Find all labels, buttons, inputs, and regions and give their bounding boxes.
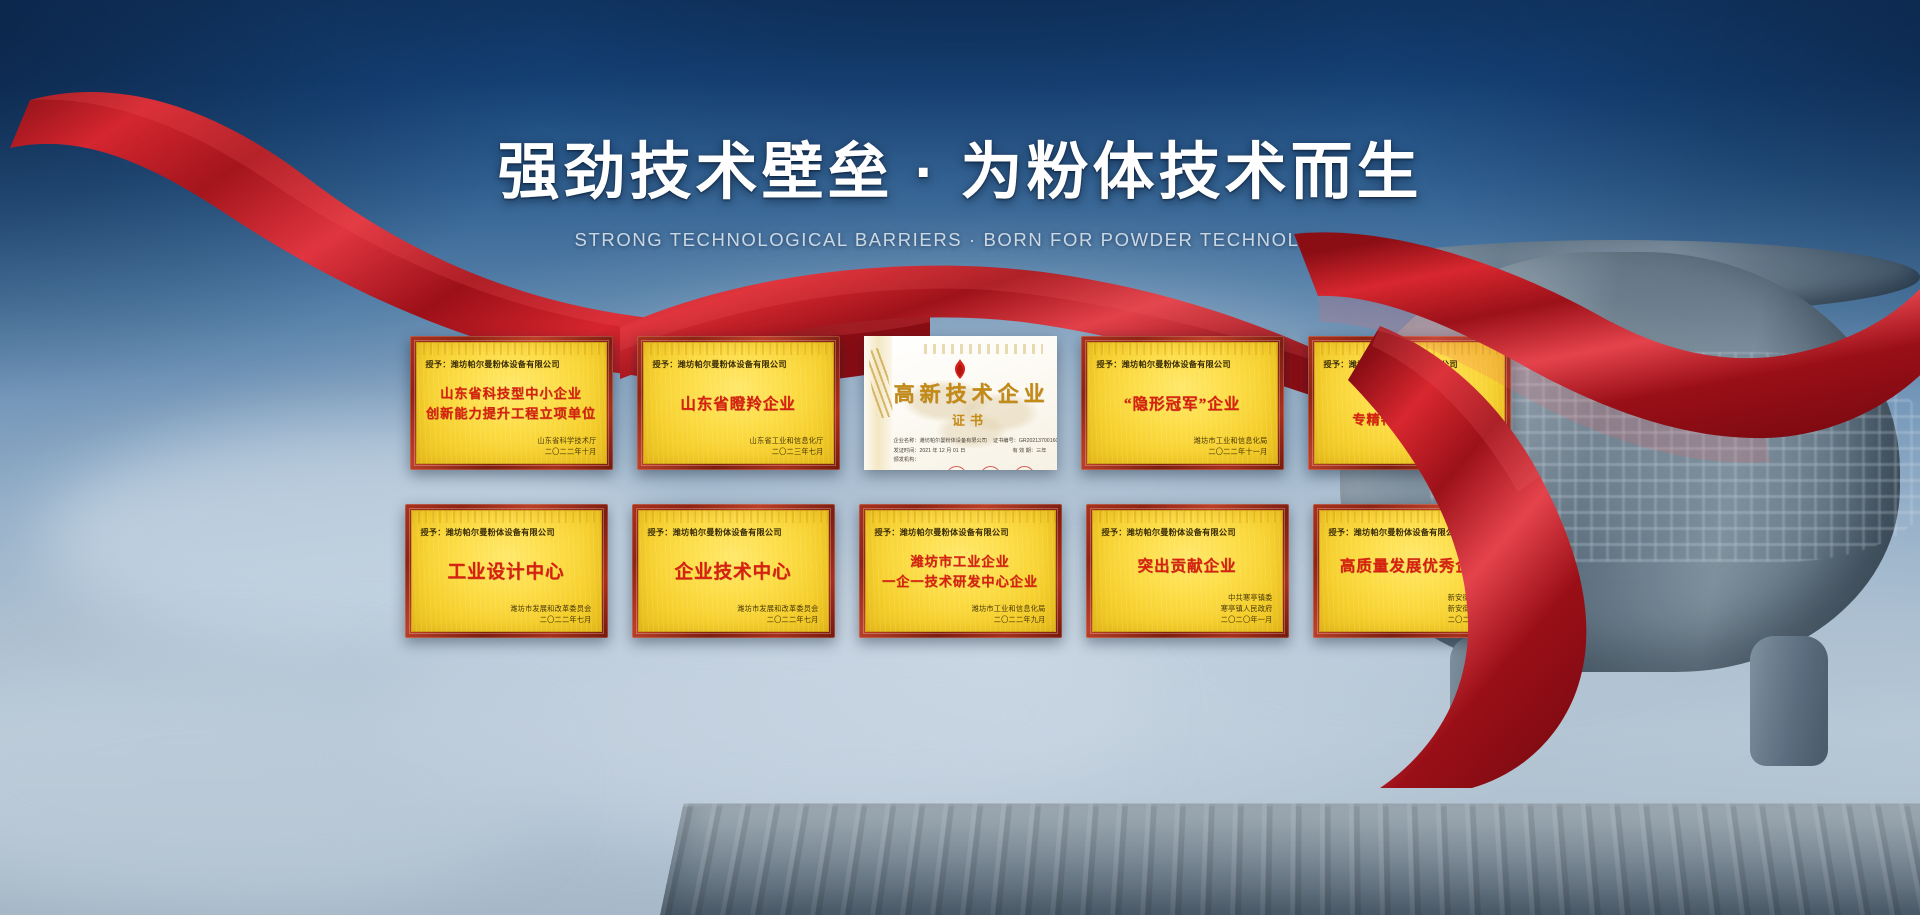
award-plaque[interactable]: 授予：潍坊帕尔曼粉体设备有限公司潍坊市工业企业一企一技术研发中心企业潍坊市工业和… [859,504,1062,638]
award-title-line: 山东省瞪羚企业 [680,392,796,414]
award-issuer-block: 山东省科学技术厅二〇二二年十月 [426,435,597,457]
award-recipient: 授予：潍坊帕尔曼粉体设备有限公司 [875,526,1046,538]
plaque-face: 授予：潍坊帕尔曼粉体设备有限公司工业设计中心潍坊市发展和改革委员会二〇二二年七月 [411,510,602,632]
award-date: 二〇二三年二月 [1329,614,1500,625]
hero-banner: 强劲技术壁垒 · 为粉体技术而生 STRONG TECHNOLOGICAL BA… [0,0,1920,915]
award-issuer-block: 新安街道党工委新安街道办事处二〇二三年二月 [1329,592,1500,625]
award-title: 工业设计中心 [421,539,592,603]
award-plaque[interactable]: 授予：潍坊帕尔曼粉体设备有限公司突出贡献企业中共寒亭镇委寒亭镇人民政府二〇二〇年… [1086,504,1289,638]
award-recipient: 授予：潍坊帕尔曼粉体设备有限公司 [421,526,592,538]
award-title: 山东省科技型中小企业创新能力提升工程立项单位 [426,371,597,435]
cloud-decoration [0,660,540,910]
awards-gallery: 授予：潍坊帕尔曼粉体设备有限公司山东省科技型中小企业创新能力提升工程立项单位山东… [0,336,1920,638]
award-date: 二〇二二年九月 [875,614,1046,625]
award-title-line: 创新能力提升工程立项单位 [426,403,596,422]
certificate-field-left: 企业名称：潍坊帕尔曼粉体设备有限公司 [894,437,987,447]
awards-row-2: 授予：潍坊帕尔曼粉体设备有限公司工业设计中心潍坊市发展和改革委员会二〇二二年七月… [0,504,1920,638]
page-title: 强劲技术壁垒 · 为粉体技术而生 [0,136,1920,209]
award-issuer: 潍坊市发展和改革委员会 [421,603,592,614]
award-issuer-block: 中共寒亭镇委寒亭镇人民政府二〇二〇年一月 [1102,592,1273,625]
award-plaque[interactable]: 授予：潍坊帕尔曼粉体设备有限公司山东省科技型中小企业创新能力提升工程立项单位山东… [410,336,613,470]
award-title-line: 工业设计中心 [447,558,564,584]
award-issuer-block: 潍坊市发展和改革委员会二〇二二年七月 [648,603,819,625]
award-issuer: 潍坊市工业和信息化局 [875,603,1046,614]
ding-leg [1450,636,1528,766]
hero-title-block: 强劲技术壁垒 · 为粉体技术而生 STRONG TECHNOLOGICAL BA… [0,136,1920,251]
certificate-high-tech-enterprise[interactable]: 高新技术企业证书企业名称：潍坊帕尔曼粉体设备有限公司证书编号：GR2021370… [864,336,1057,470]
certificate-field-row: 发证时间：2021 年 12 月 01 日有 效 期：三年 [894,447,1047,457]
award-plaque[interactable]: 授予：潍坊帕尔曼粉体设备有限公司“隐形冠军”企业潍坊市工业和信息化局二〇二二年十… [1081,336,1284,470]
plaque-face: 授予：潍坊帕尔曼粉体设备有限公司企业技术中心潍坊市发展和改革委员会二〇二二年七月 [638,510,829,632]
award-title: “隐形冠军”企业 [1097,371,1268,435]
award-title: 山东省专精特新中小企业 [1324,371,1495,446]
award-issuer: 山东省科学技术厅 [426,435,597,446]
plaque-face: 授予：潍坊帕尔曼粉体设备有限公司潍坊市工业企业一企一技术研发中心企业潍坊市工业和… [865,510,1056,632]
award-title-line: 一企一技术研发中心企业 [882,571,1038,590]
award-issuer: 潍坊市发展和改革委员会 [648,603,819,614]
certificate-seals [894,466,1047,470]
award-title: 潍坊市工业企业一企一技术研发中心企业 [875,539,1046,603]
award-date: 二〇二〇年一月 [1102,614,1273,625]
award-recipient: 授予：潍坊帕尔曼粉体设备有限公司 [1097,358,1268,370]
award-plaque[interactable]: 授予：潍坊帕尔曼粉体设备有限公司山东省专精特新中小企业山东省工业和信息化厅 [1308,336,1511,470]
award-title-line: 山东省 [1388,389,1431,408]
award-title-line: “隐形冠军”企业 [1124,392,1241,414]
plaque-face: 授予：潍坊帕尔曼粉体设备有限公司山东省瞪羚企业山东省工业和信息化厅二〇二三年七月 [643,342,834,464]
page-subtitle: STRONG TECHNOLOGICAL BARRIERS · BORN FOR… [0,229,1920,251]
award-date: 二〇二二年十月 [426,446,597,457]
award-issuer: 新安街道党工委 [1329,592,1500,603]
award-title-line: 高质量发展优秀企业 [1340,554,1489,576]
official-seal-icon [946,466,967,470]
award-date: 二〇二三年七月 [653,446,824,457]
award-issuer-secondary: 寒亭镇人民政府 [1102,603,1273,614]
award-plaque[interactable]: 授予：潍坊帕尔曼粉体设备有限公司工业设计中心潍坊市发展和改革委员会二〇二二年七月 [405,504,608,638]
award-date: 二〇二二年七月 [421,614,592,625]
award-title-line: 潍坊市工业企业 [910,551,1009,570]
stone-base [660,804,1920,915]
award-issuer-block: 山东省工业和信息化厅二〇二三年七月 [653,435,824,457]
award-title-line: 专精特新中小企业 [1352,409,1466,428]
plaque-face: 授予：潍坊帕尔曼粉体设备有限公司突出贡献企业中共寒亭镇委寒亭镇人民政府二〇二〇年… [1092,510,1283,632]
award-title-line: 企业技术中心 [674,558,791,584]
award-date: 二〇二二年十一月 [1097,446,1268,457]
award-date: 二〇二二年七月 [648,614,819,625]
plaque-face: 授予：潍坊帕尔曼粉体设备有限公司“隐形冠军”企业潍坊市工业和信息化局二〇二二年十… [1087,342,1278,464]
award-recipient: 授予：潍坊帕尔曼粉体设备有限公司 [1102,526,1273,538]
award-title: 高质量发展优秀企业 [1329,539,1500,592]
award-issuer-block: 潍坊市工业和信息化局二〇二二年十一月 [1097,435,1268,457]
award-recipient: 授予：潍坊帕尔曼粉体设备有限公司 [653,358,824,370]
certificate-field-row: 企业名称：潍坊帕尔曼粉体设备有限公司证书编号：GR202137001602 [894,437,1047,447]
certificate-field-right: 有 效 期：三年 [1012,447,1046,457]
award-issuer-block: 潍坊市发展和改革委员会二〇二二年七月 [421,603,592,625]
award-recipient: 授予：潍坊帕尔曼粉体设备有限公司 [648,526,819,538]
certificate-field-left: 颁发机构： [894,456,920,466]
award-title: 突出贡献企业 [1102,539,1273,592]
award-recipient: 授予：潍坊帕尔曼粉体设备有限公司 [426,358,597,370]
certificate-fields: 企业名称：潍坊帕尔曼粉体设备有限公司证书编号：GR202137001602发证时… [894,437,1047,466]
award-recipient: 授予：潍坊帕尔曼粉体设备有限公司 [1324,358,1495,370]
award-plaque[interactable]: 授予：潍坊帕尔曼粉体设备有限公司山东省瞪羚企业山东省工业和信息化厅二〇二三年七月 [637,336,840,470]
certificate-subtitle: 证书 [894,410,1047,429]
award-issuer-block: 潍坊市工业和信息化局二〇二二年九月 [875,603,1046,625]
plaque-face: 授予：潍坊帕尔曼粉体设备有限公司山东省科技型中小企业创新能力提升工程立项单位山东… [416,342,607,464]
award-issuer: 潍坊市工业和信息化局 [1097,435,1268,446]
plaque-face: 授予：潍坊帕尔曼粉体设备有限公司高质量发展优秀企业新安街道党工委新安街道办事处二… [1319,510,1510,632]
official-seal-icon [1014,466,1035,470]
certificate-field-row: 颁发机构： [894,456,1047,466]
award-plaque[interactable]: 授予：潍坊帕尔曼粉体设备有限公司企业技术中心潍坊市发展和改革委员会二〇二二年七月 [632,504,835,638]
awards-row-1: 授予：潍坊帕尔曼粉体设备有限公司山东省科技型中小企业创新能力提升工程立项单位山东… [0,336,1920,470]
flame-emblem-icon [949,358,971,380]
award-title-line: 山东省科技型中小企业 [440,383,582,402]
certificate-field-left: 发证时间：2021 年 12 月 01 日 [894,447,966,457]
award-issuer: 中共寒亭镇委 [1102,592,1273,603]
award-plaque[interactable]: 授予：潍坊帕尔曼粉体设备有限公司高质量发展优秀企业新安街道党工委新安街道办事处二… [1313,504,1516,638]
award-title: 企业技术中心 [648,539,819,603]
ding-leg [1750,636,1828,766]
certificate-field-right: 证书编号：GR202137001602 [993,437,1057,447]
official-seal-icon [980,466,1001,470]
plaque-face: 授予：潍坊帕尔曼粉体设备有限公司山东省专精特新中小企业山东省工业和信息化厅 [1314,342,1505,464]
certificate-top-ornament [924,344,1043,354]
award-issuer-secondary: 新安街道办事处 [1329,603,1500,614]
award-issuer: 山东省工业和信息化厅 [653,435,824,446]
award-title: 山东省瞪羚企业 [653,371,824,435]
award-title-line: 突出贡献企业 [1137,554,1236,576]
award-issuer: 山东省工业和信息化厅 [1324,446,1495,457]
award-recipient: 授予：潍坊帕尔曼粉体设备有限公司 [1329,526,1500,538]
award-issuer-block: 山东省工业和信息化厅 [1324,446,1495,457]
certificate-title: 高新技术企业 [894,378,1047,408]
